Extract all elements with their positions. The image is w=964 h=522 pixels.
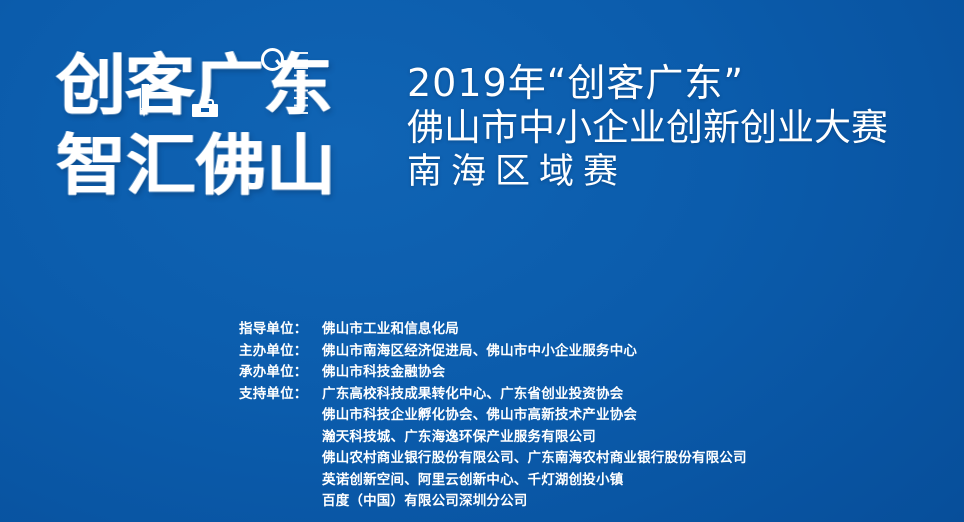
credit-row: 佛山市科技企业孵化协会、佛山市高新技术产业协会 (239, 405, 859, 427)
credit-label: 承办单位： (239, 362, 322, 384)
event-title: 2019年“创客广东” 佛山市中小企业创新创业大赛 南海区域赛 (407, 60, 947, 194)
credit-label: 主办单位： (239, 341, 322, 363)
credit-value: 佛山市科技企业孵化协会、佛山市高新技术产业协会 (322, 405, 859, 427)
credit-value: 佛山市南海区经济促进局、佛山市中小企业服务中心 (322, 341, 859, 363)
credit-value: 百度（中国）有限公司深圳分公司 (322, 491, 859, 513)
credit-label: 指导单位： (239, 319, 322, 341)
credit-value: 英诺创新空间、阿里云创新中心、千灯湖创投小镇 (322, 470, 859, 492)
title-line-1: 2019年“创客广东” (407, 60, 947, 106)
credit-row: 主办单位： 佛山市南海区经济促进局、佛山市中小企业服务中心 (239, 341, 859, 363)
logo-line-1: 创客广东 (56, 46, 385, 126)
credit-value: 佛山市科技金融协会 (322, 362, 859, 384)
credit-label: 支持单位： (239, 384, 322, 406)
credit-value: 佛山市工业和信息化局 (322, 319, 859, 341)
organizer-credits: 指导单位： 佛山市工业和信息化局 主办单位： 佛山市南海区经济促进局、佛山市中小… (239, 319, 859, 513)
event-logo: 创客广东 智汇佛山 (56, 46, 366, 218)
credit-row: 承办单位： 佛山市科技金融协会 (239, 362, 859, 384)
credit-row: 英诺创新空间、阿里云创新中心、千灯湖创投小镇 (239, 470, 859, 492)
title-line-2: 佛山市中小企业创新创业大赛 (407, 106, 947, 150)
credit-row: 百度（中国）有限公司深圳分公司 (239, 491, 859, 513)
credit-row: 瀚天科技城、广东海逸环保产业服务有限公司 (239, 427, 859, 449)
title-line-3: 南海区域赛 (407, 150, 947, 194)
credit-value: 佛山农村商业银行股份有限公司、广东南海农村商业银行股份有限公司 (322, 448, 859, 470)
logo-line-2: 智汇佛山 (56, 126, 385, 206)
credit-value: 广东高校科技成果转化中心、广东省创业投资协会 (322, 384, 859, 406)
poster-canvas: 创客广东 智汇佛山 2019年“创客广东” 佛山市中小企业创新创业大赛 南海区域… (0, 0, 964, 522)
credit-value: 瀚天科技城、广东海逸环保产业服务有限公司 (322, 427, 859, 449)
credit-row: 佛山农村商业银行股份有限公司、广东南海农村商业银行股份有限公司 (239, 448, 859, 470)
credit-row: 支持单位： 广东高校科技成果转化中心、广东省创业投资协会 (239, 384, 859, 406)
credit-row: 指导单位： 佛山市工业和信息化局 (239, 319, 859, 341)
